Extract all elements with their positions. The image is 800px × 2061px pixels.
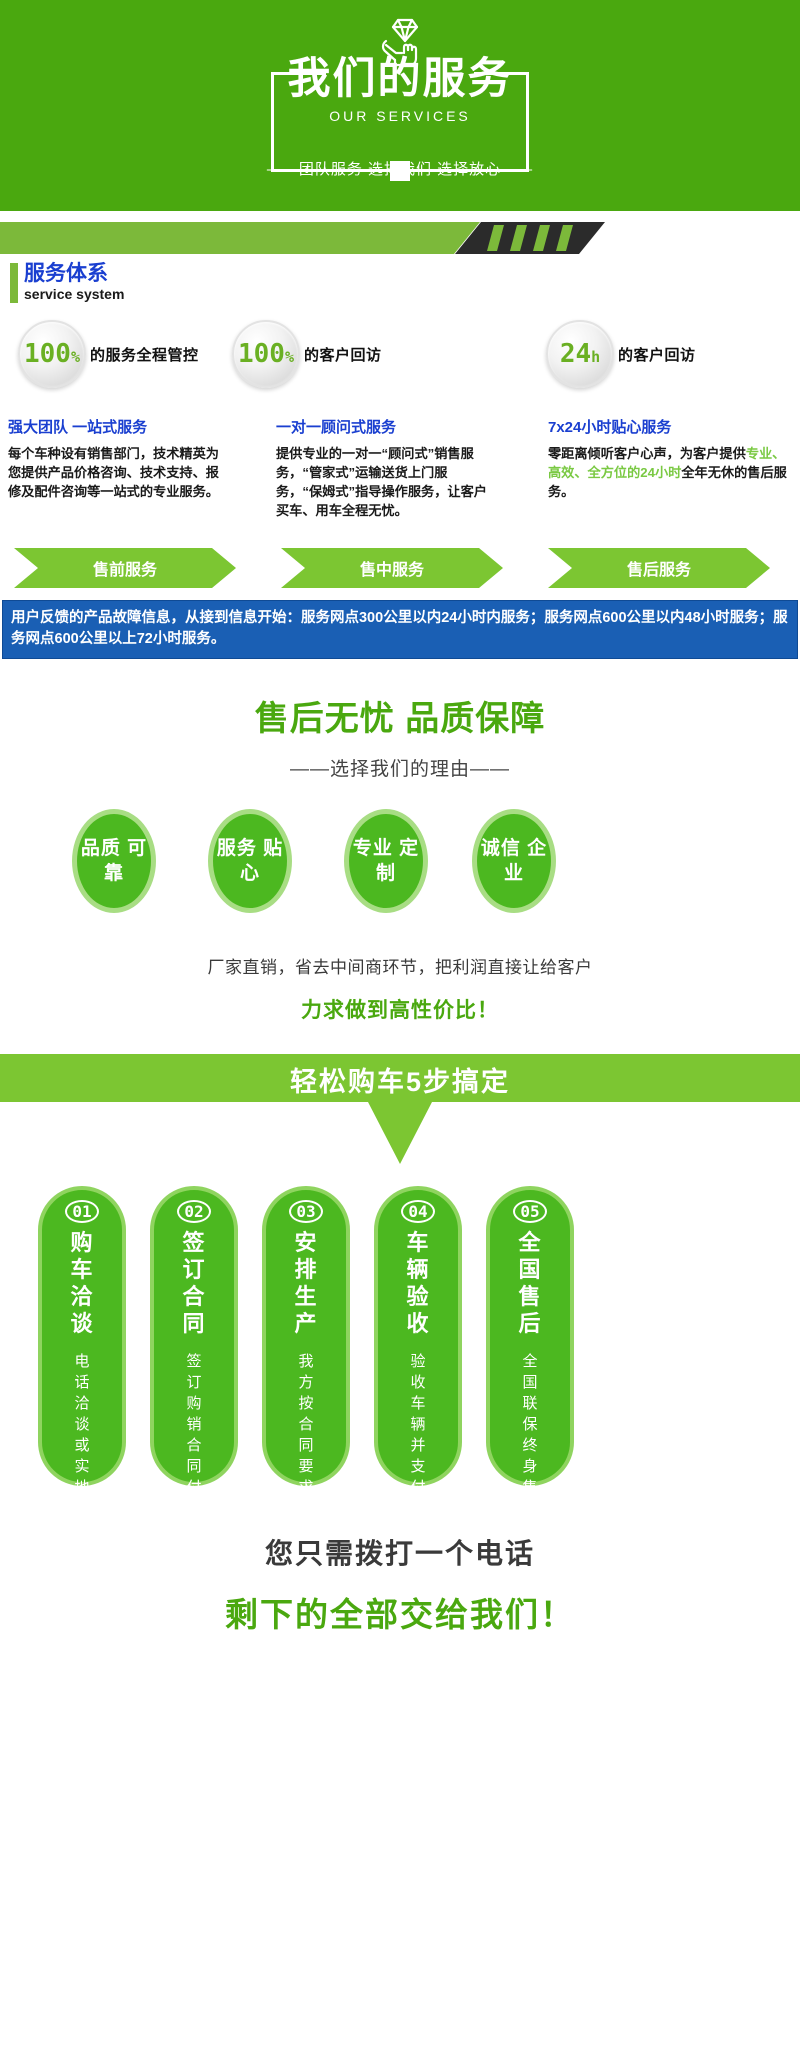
badge-label-3: 的客户回访 [618,344,696,365]
column-title-1: 强大团队 一站式服务 [8,416,223,437]
badge-num-value-1: 100 [24,339,71,369]
step-desc-2: 签订购销合同付定金 [183,1351,205,1540]
purchase-step-2[interactable]: 02 签订合同 签订购销合同付定金 [150,1186,238,1486]
reason-oval-4: 诚信 企业 [472,809,556,913]
heading-accent-bar [10,263,18,303]
badge-circle-2: 100% [232,320,300,388]
badge-number-3: 24h [560,341,600,367]
badge-circle-1: 100% [18,320,86,388]
value-for-money-line: 力求做到高性价比！ [0,994,800,1024]
step-title-5: 全国售后 [513,1229,547,1337]
reason-oval-3: 专业 定制 [344,809,428,913]
reason-label-4: 诚信 企业 [477,836,551,886]
stage-arrow-presale[interactable]: 售前服务 [14,548,236,588]
worry-free-subtitle: ——选择我们的理由—— [0,754,800,781]
reason-label-3: 专业 定制 [349,836,423,886]
badge-number-2: 100% [238,341,294,367]
ribbon-dark-band [455,222,605,254]
reason-label-2: 服务 贴心 [213,836,287,886]
page-subtitle-en: OUR SERVICES [329,108,471,124]
badge-num-unit-1: % [71,348,80,366]
purchase-steps: 01 购车洽谈 电话洽谈或实地考察 02 签订合同 签订购销合同付定金 03 安… [0,1186,800,1486]
column-body-2: 提供专业的一对一“顾问式”销售服务，“管家式”运输送货上门服务，“保姆式”指导操… [276,444,491,520]
step-title-3: 安排生产 [289,1229,323,1337]
stat-badge-2: 100% 的客户回访 [232,320,382,388]
badge-num-unit-3: h [591,348,600,366]
step-title-4: 车辆验收 [401,1229,435,1337]
service-response-notice: 用户反馈的产品故障信息，从接到信息开始：服务网点300公里以内24小时内服务；服… [2,600,798,659]
footer-cta-line: 剩下的全部交给我们！ [0,1588,800,1636]
footer-call-line: 您只需拨打一个电话 [0,1532,800,1572]
step-number-2: 02 [177,1200,211,1223]
heading-cn: 服务体系 [24,262,800,286]
decorative-ribbon [0,222,800,254]
service-column-3: 7x24小时贴心服务 零距离倾听客户心声，为客户提供专业、高效、全方位的24小时… [548,416,792,501]
badge-num-value-2: 100 [238,339,285,369]
reason-oval-1: 品质 可靠 [72,809,156,913]
step-desc-4: 验收车辆并支付尾款 [407,1351,429,1540]
hero-tagline: ——团队服务 选择我们 选择放心—— [267,158,533,179]
step-number-5: 05 [513,1200,547,1223]
badge-num-unit-2: % [285,348,294,366]
column-body-3: 零距离倾听客户心声，为客户提供专业、高效、全方位的24小时全年无休的售后服务。 [548,444,792,501]
step-title-1: 购车洽谈 [65,1229,99,1337]
ribbon-green-band [0,222,480,254]
reason-ovals: 品质 可靠 服务 贴心 专业 定制 诚信 企业 [0,809,800,919]
purchase-step-4[interactable]: 04 车辆验收 验收车辆并支付尾款 [374,1186,462,1486]
step-number-1: 01 [65,1200,99,1223]
column-body-1: 每个车种设有销售部门，技术精英为您提供产品价格咨询、技术支持、报修及配件咨询等一… [8,444,223,501]
page-title: 我们的服务 [288,58,513,101]
stat-badges: 100% 的服务全程管控 100% 的客户回访 24h 的客户回访 [0,320,800,408]
step-desc-5: 全国联保终身售后 [519,1351,541,1519]
hero-banner: 我们的服务 OUR SERVICES ——团队服务 选择我们 选择放心—— [0,0,800,211]
badge-circle-3: 24h [546,320,614,388]
step-number-4: 04 [401,1200,435,1223]
step-title-2: 签订合同 [177,1229,211,1337]
service-columns: 强大团队 一站式服务 每个车种设有销售部门，技术精英为您提供产品价格咨询、技术支… [0,416,800,536]
steps-banner-title: 轻松购车5步搞定 [0,1060,800,1099]
service-stage-arrows: 售前服务 售中服务 售后服务 [0,548,800,588]
badge-num-value-3: 24 [560,339,591,369]
column-body-3-pre: 零距离倾听客户心声，为客户提供 [548,446,746,461]
stage-arrow-insale[interactable]: 售中服务 [281,548,503,588]
factory-direct-line: 厂家直销，省去中间商环节，把利润直接让给客户 [0,953,800,978]
stage-arrow-aftersale[interactable]: 售后服务 [548,548,770,588]
reason-oval-2: 服务 贴心 [208,809,292,913]
step-desc-1: 电话洽谈或实地考察 [71,1351,93,1540]
service-column-2: 一对一顾问式服务 提供专业的一对一“顾问式”销售服务，“管家式”运输送货上门服务… [276,416,491,520]
step-desc-3: 我方按合同要求生产 [295,1351,317,1540]
service-system-heading: 服务体系 service system [10,262,800,306]
service-column-1: 强大团队 一站式服务 每个车种设有销售部门，技术精英为您提供产品价格咨询、技术支… [8,416,223,501]
purchase-step-3[interactable]: 03 安排生产 我方按合同要求生产 [262,1186,350,1486]
column-title-2: 一对一顾问式服务 [276,416,491,437]
purchase-step-1[interactable]: 01 购车洽谈 电话洽谈或实地考察 [38,1186,126,1486]
worry-free-title: 售后无忧 品质保障 [0,691,800,740]
purchase-step-5[interactable]: 05 全国售后 全国联保终身售后 [486,1186,574,1486]
column-title-3: 7x24小时贴心服务 [548,416,792,437]
step-number-3: 03 [289,1200,323,1223]
badge-number-1: 100% [24,341,80,367]
badge-label-2: 的客户回访 [304,344,382,365]
stat-badge-3: 24h 的客户回访 [546,320,696,388]
steps-banner: 轻松购车5步搞定 [0,1054,800,1164]
reason-label-1: 品质 可靠 [77,836,151,886]
badge-label-1: 的服务全程管控 [90,344,199,365]
stat-badge-1: 100% 的服务全程管控 [18,320,199,388]
heading-en: service system [24,286,800,303]
